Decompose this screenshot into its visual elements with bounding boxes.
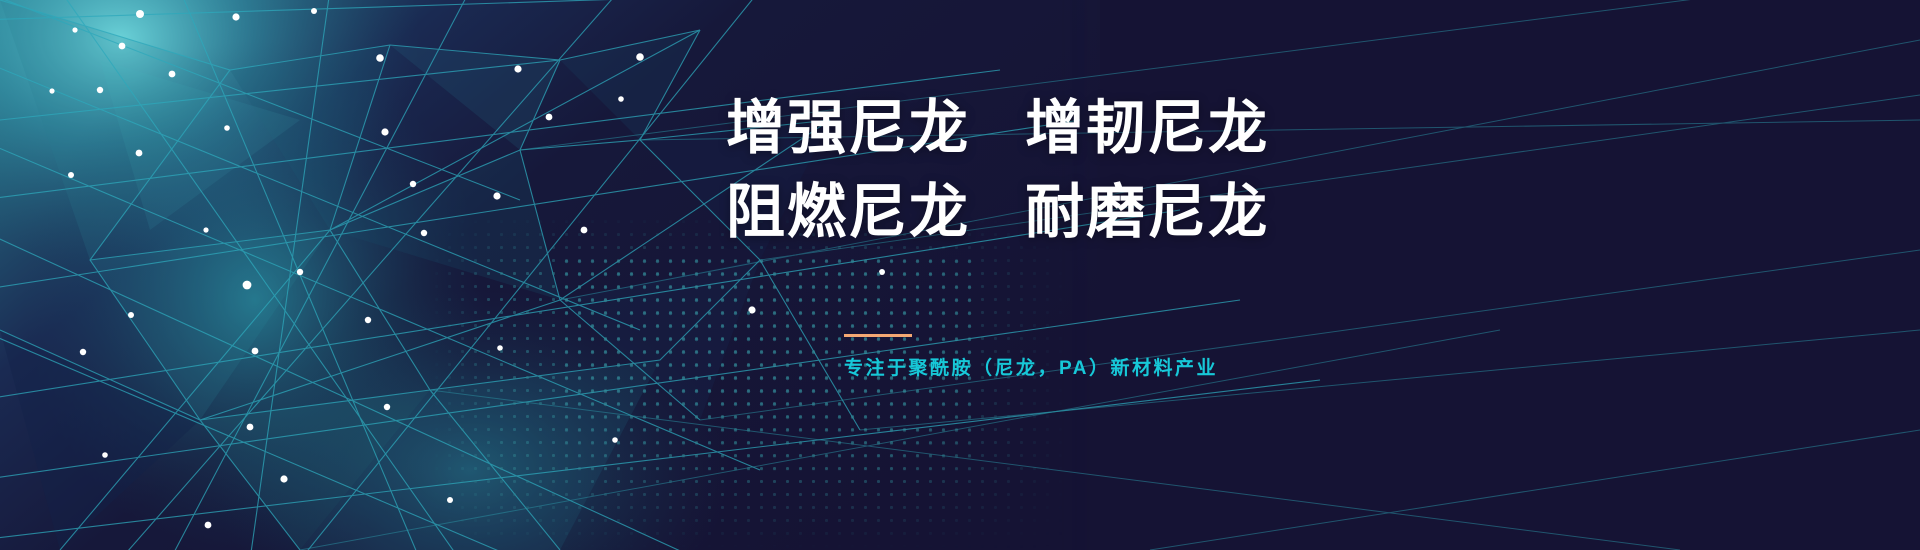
hero-banner: 增强尼龙 增韧尼龙 阻燃尼龙 耐磨尼龙 专注于聚酰胺（尼龙，PA）新材料产业 xyxy=(0,0,1920,550)
accent-divider xyxy=(844,334,912,337)
headline-line-2: 阻燃尼龙 耐磨尼龙 xyxy=(726,170,1366,254)
banner-content: 增强尼龙 增韧尼龙 阻燃尼龙 耐磨尼龙 专注于聚酰胺（尼龙，PA）新材料产业 xyxy=(726,86,1366,380)
banner-subtitle: 专注于聚酰胺（尼龙，PA）新材料产业 xyxy=(726,353,1366,380)
divider-wrapper xyxy=(726,334,1366,337)
headline-line-1: 增强尼龙 增韧尼龙 xyxy=(726,86,1366,170)
